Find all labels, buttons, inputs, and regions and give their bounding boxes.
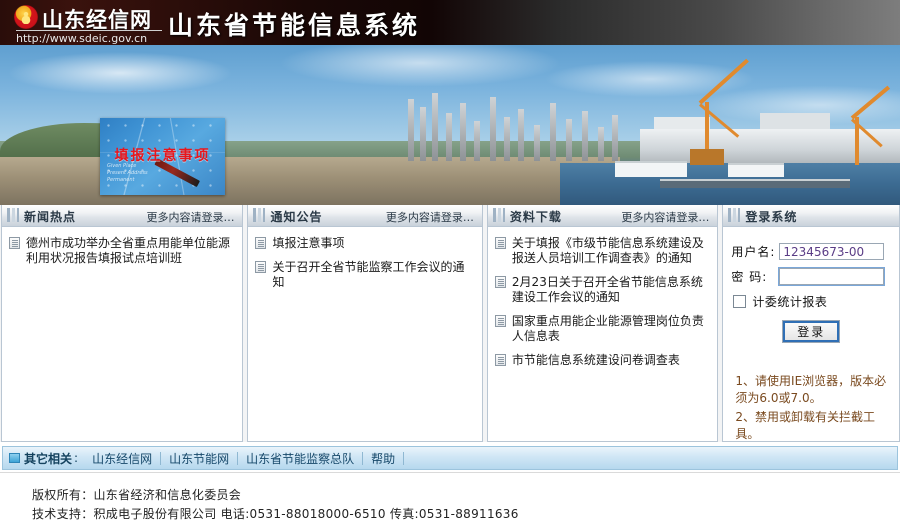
document-icon [495, 315, 506, 327]
panel-bars-icon [253, 208, 265, 222]
list-item-label: 2月23日关于召开全省节能信息系统建设工作会议的通知 [512, 275, 703, 304]
panel-download-header: 资料下载 更多内容请登录… [488, 205, 717, 227]
statistics-checkbox[interactable] [733, 295, 746, 308]
panel-login: 登录系统 用户名: 密 码: 计委统计报表 登录 [722, 205, 900, 442]
logo-divider [16, 30, 162, 31]
page-root: 山东经信网 http://www.sdeic.gov.cn 山东省节能信息系统 [0, 0, 900, 526]
banner-notice-card[interactable]: Given PlacePresent AddressPermanent 填报注意… [100, 118, 225, 195]
panel-login-title: 登录系统 [745, 208, 797, 225]
list-item[interactable]: 关于填报《市级节能信息系统建设及报送人员培训工作调查表》的通知 [495, 236, 710, 266]
list-item-label: 关于填报《市级节能信息系统建设及报送人员培训工作调查表》的通知 [512, 236, 704, 265]
national-emblem-icon [14, 5, 38, 29]
panel-download-title: 资料下载 [510, 208, 562, 225]
list-item-label: 关于召开全省节能监察工作会议的通知 [272, 260, 464, 289]
password-label: 密 码: [731, 268, 779, 285]
related-links-title: 其它相关 [24, 450, 72, 467]
panel-bars-icon [7, 208, 19, 222]
panel-notice-body: 填报注意事项 关于召开全省节能监察工作会议的通知 [248, 227, 481, 290]
panel-notice: 通知公告 更多内容请登录… 填报注意事项 关于召开全省节能监察工作会议的通知 [247, 205, 482, 442]
panel-notice-title: 通知公告 [270, 208, 322, 225]
footer-copyright: 版权所有：山东省经济和信息化委员会 [32, 486, 900, 505]
banner-image: Given PlacePresent AddressPermanent 填报注意… [0, 45, 900, 205]
list-item[interactable]: 市节能信息系统建设问卷调查表 [495, 353, 710, 368]
list-item[interactable]: 填报注意事项 [255, 236, 474, 251]
document-icon [495, 276, 506, 288]
list-item-label: 德州市成功举办全省重点用能单位能源利用状况报告填报试点培训班 [26, 236, 230, 265]
content-panels: 新闻热点 更多内容请登录… 德州市成功举办全省重点用能单位能源利用状况报告填报试… [0, 205, 900, 442]
panel-notice-more-link[interactable]: 更多内容请登录… [386, 209, 474, 225]
panel-news-more-link[interactable]: 更多内容请登录… [146, 209, 234, 225]
panel-news-header: 新闻热点 更多内容请登录… [2, 205, 242, 227]
panel-bars-icon [493, 208, 505, 222]
site-header: 山东经信网 http://www.sdeic.gov.cn 山东省节能信息系统 [0, 0, 900, 45]
username-label: 用户名: [731, 243, 779, 260]
password-row: 密 码: [731, 268, 891, 285]
banner-boat-b [728, 163, 784, 177]
document-icon [255, 261, 266, 273]
panel-news-title: 新闻热点 [24, 208, 76, 225]
statistics-checkbox-label[interactable]: 计委统计报表 [752, 293, 827, 310]
statistics-checkbox-row: 计委统计报表 [733, 293, 891, 310]
login-button-wrap: 登录 [731, 320, 891, 343]
panel-news-body: 德州市成功举办全省重点用能单位能源利用状况报告填报试点培训班 [2, 227, 242, 266]
site-logo[interactable]: 山东经信网 http://www.sdeic.gov.cn [14, 4, 162, 44]
login-notes: 1、请使用IE浏览器，版本必须为6.0或7.0。 2、禁用或卸载有关拦截工具。 [735, 373, 887, 443]
panel-download: 资料下载 更多内容请登录… 关于填报《市级节能信息系统建设及报送人员培训工作调查… [487, 205, 718, 442]
page-title: 山东省节能信息系统 [168, 6, 420, 42]
panel-news: 新闻热点 更多内容请登录… 德州市成功举办全省重点用能单位能源利用状况报告填报试… [1, 205, 243, 442]
list-item[interactable]: 关于召开全省节能监察工作会议的通知 [255, 260, 474, 290]
card-form-text: Given PlacePresent AddressPermanent [107, 163, 148, 184]
password-input[interactable] [779, 268, 884, 285]
footer-support: 技术支持：积成电子股份有限公司 电话:0531-88018000-6510 传真… [32, 505, 900, 524]
site-footer: 版权所有：山东省经济和信息化委员会 技术支持：积成电子股份有限公司 电话:053… [0, 476, 900, 524]
related-links-colon: : [74, 451, 78, 465]
login-note-1: 1、请使用IE浏览器，版本必须为6.0或7.0。 [735, 373, 887, 407]
related-links-bar: 其它相关 : 山东经信网 山东节能网 山东省节能监察总队 帮助 [2, 446, 898, 470]
link-sdeic[interactable]: 山东经信网 [84, 450, 160, 467]
panel-login-header: 登录系统 [723, 205, 899, 227]
list-item-label: 填报注意事项 [272, 236, 344, 250]
banner-card-title: 填报注意事项 [100, 145, 225, 165]
list-item-label: 国家重点用能企业能源管理岗位负责人信息表 [512, 314, 704, 343]
link-supervision-team[interactable]: 山东省节能监察总队 [238, 450, 362, 467]
link-energy-saving[interactable]: 山东节能网 [161, 450, 237, 467]
banner-city [640, 129, 900, 163]
login-button[interactable]: 登录 [782, 320, 840, 343]
window-icon [9, 453, 20, 463]
document-icon [495, 237, 506, 249]
username-row: 用户名: [731, 243, 891, 260]
link-separator [403, 452, 404, 465]
banner-dock [660, 179, 850, 188]
document-icon [255, 237, 266, 249]
document-icon [9, 237, 20, 249]
list-item[interactable]: 国家重点用能企业能源管理岗位负责人信息表 [495, 314, 710, 344]
list-item[interactable]: 2月23日关于召开全省节能信息系统建设工作会议的通知 [495, 275, 710, 305]
panel-bars-icon [728, 208, 740, 222]
banner-ground [0, 157, 620, 205]
panel-download-body: 关于填报《市级节能信息系统建设及报送人员培训工作调查表》的通知 2月23日关于召… [488, 227, 717, 368]
login-form: 用户名: 密 码: 计委统计报表 登录 1、请使用IE浏览器，版本必须为6.0或… [723, 227, 899, 443]
banner-boat-a [615, 161, 687, 177]
link-help[interactable]: 帮助 [363, 450, 403, 467]
list-item[interactable]: 德州市成功举办全省重点用能单位能源利用状况报告填报试点培训班 [9, 236, 235, 266]
panel-notice-header: 通知公告 更多内容请登录… [248, 205, 481, 227]
panel-download-more-link[interactable]: 更多内容请登录… [621, 209, 709, 225]
document-icon [495, 354, 506, 366]
username-input[interactable] [779, 243, 884, 260]
banner-refinery [400, 91, 630, 161]
list-item-label: 市节能信息系统建设问卷调查表 [512, 353, 680, 367]
footer-divider [0, 472, 900, 473]
login-note-2: 2、禁用或卸载有关拦截工具。 [735, 409, 887, 443]
logo-url: http://www.sdeic.gov.cn [16, 32, 147, 45]
